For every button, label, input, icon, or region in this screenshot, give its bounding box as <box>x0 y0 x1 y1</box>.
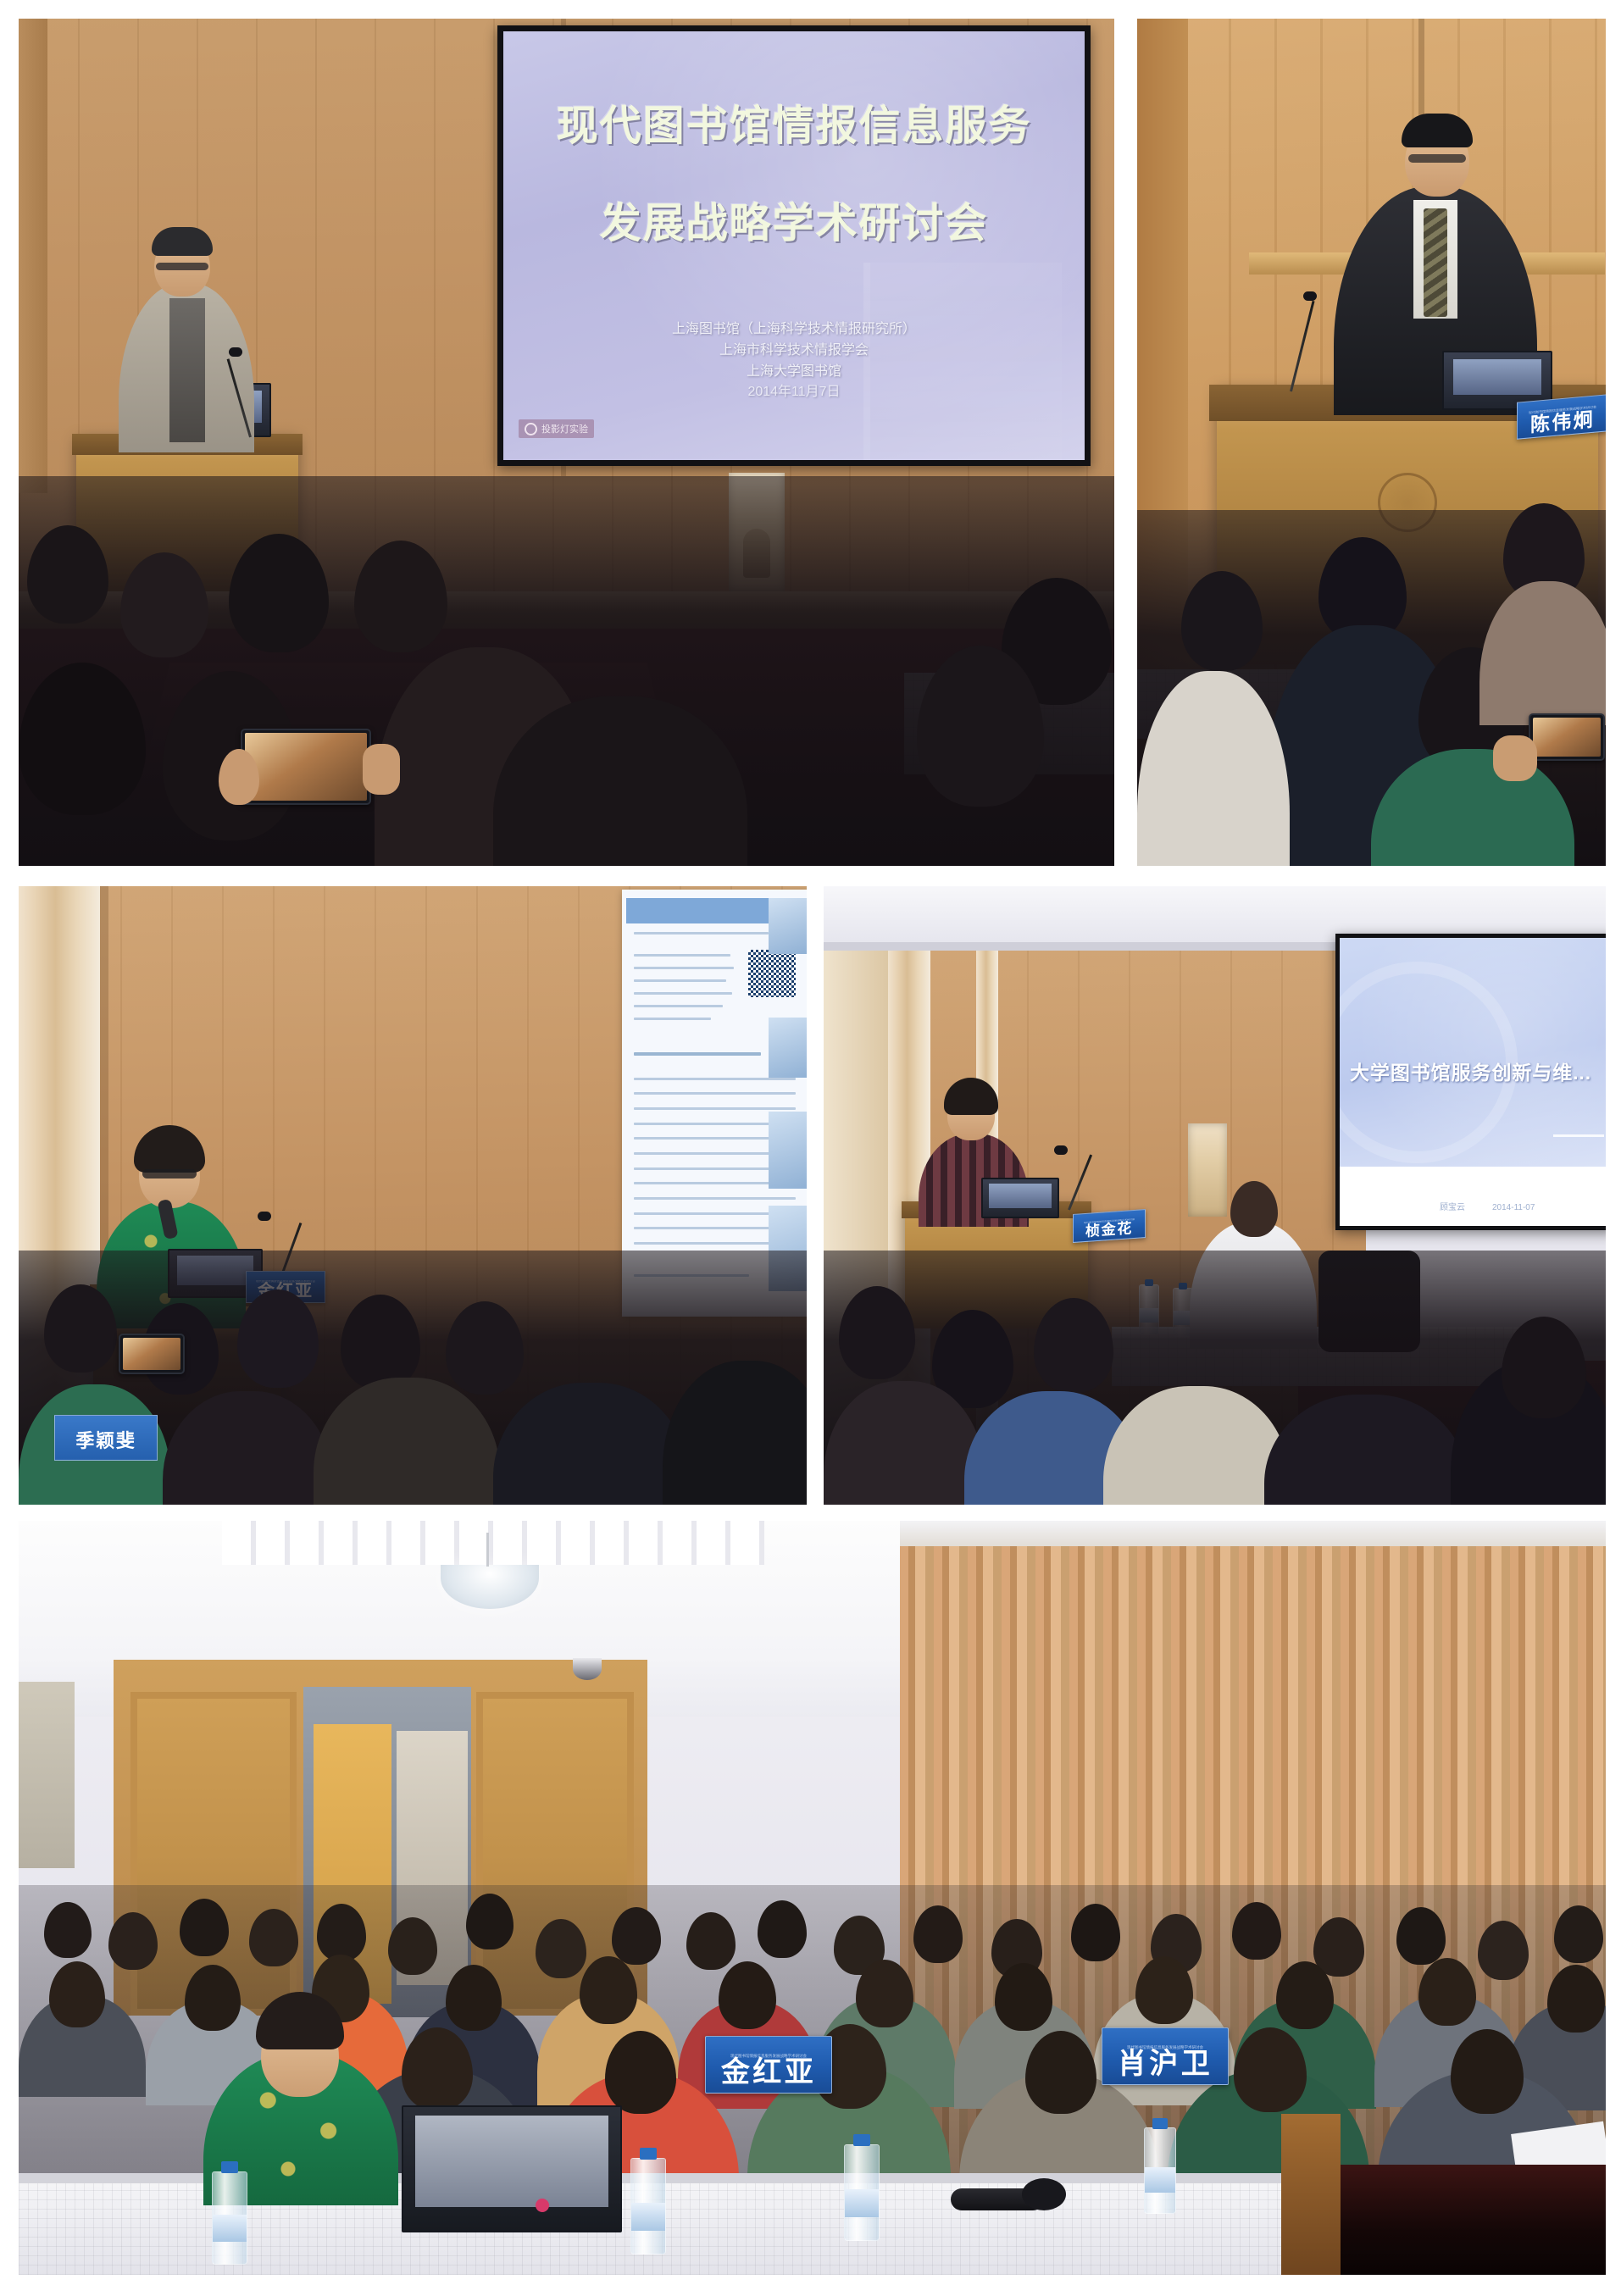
photo-full-audience-hall[interactable]: 现代图书馆情报信息服务发展战略学术研讨会 金红亚 现代图书馆情报信息服务发展战略… <box>19 1521 1606 2275</box>
photo-speaker-chen-weijiong[interactable]: 现代图书馆情报信息服务发展战略学术研讨会 陈伟炯 <box>1137 19 1606 866</box>
microphone-icon <box>229 347 242 357</box>
projector-icon: 投影灯实验 <box>519 419 594 438</box>
security-camera-icon <box>573 1658 602 1680</box>
slide-organizer-line-3: 上海大学图书馆 <box>503 362 1085 383</box>
projection-screen: 现代图书馆情报信息服务 发展战略学术研讨会 上海图书馆（上海科学技术情报研究所）… <box>497 25 1091 466</box>
microphone-icon <box>1054 1145 1068 1155</box>
wall-niche <box>1188 1123 1227 1217</box>
slide-logo-label: 投影灯实验 <box>541 422 588 435</box>
projection-screen: 大学图书馆服务创新与维... 顾宝云 2014-11-07 <box>1335 934 1606 1230</box>
attendee-badge: 季颖斐 季颖斐 <box>54 1415 158 1461</box>
microphone-icon <box>1303 291 1317 301</box>
speaker-hair <box>152 227 213 256</box>
slide-title: 大学图书馆服务创新与维... <box>1340 1056 1606 1085</box>
speaker-glasses <box>142 1169 197 1179</box>
speaker-tie <box>1424 208 1447 317</box>
speaker-shirt <box>169 298 205 442</box>
audience-phone <box>119 1334 185 1374</box>
phone-holder-hand <box>363 744 400 795</box>
podium-laptop <box>981 1178 1059 1218</box>
speaker-glasses <box>156 263 208 270</box>
speaker-glasses <box>1408 154 1466 163</box>
nameplate-speaker: 现代图书馆情报信息服务发展战略学术研讨会 桢金花 <box>1073 1209 1146 1243</box>
speaker-hair <box>1402 114 1473 147</box>
nameplate-head-table-2: 现代图书馆情报信息服务发展战略学术研讨会 肖沪卫 <box>1102 2027 1229 2085</box>
phone-holder-hand <box>1493 735 1537 781</box>
photo-opening-speaker-wide-shot[interactable]: 现代图书馆情报信息服务 发展战略学术研讨会 上海图书馆（上海科学技术情报研究所）… <box>19 19 1114 866</box>
slide-organizer-line-2: 上海市科学技术情报学会 <box>503 341 1085 362</box>
lamp-rod <box>486 1533 489 1567</box>
water-bottle <box>212 2171 247 2265</box>
nameplate-name: 肖沪卫 <box>1102 2049 1228 2084</box>
slide-photo <box>769 898 807 954</box>
slide-date: 2014-11-07 <box>1492 1201 1535 1215</box>
curtain-rail <box>900 1521 1606 1546</box>
photo-speaker-jin-hongya[interactable]: 现代图书馆情报信息服务发展战略学术研讨会 金红亚 季颖斐 季颖斐 <box>19 886 807 1505</box>
slide-date: 2014年11月7日 <box>503 382 1085 403</box>
badge-name: 季颖斐 <box>75 1426 136 1453</box>
wall-seam <box>19 19 47 493</box>
water-bottle <box>1144 2127 1176 2214</box>
foreground-curtain-shadow <box>1307 2165 1606 2275</box>
head-table-laptop[interactable] <box>402 2105 622 2232</box>
slide-title-line-2: 发展战略学术研讨会 <box>503 190 1085 250</box>
chair-wood-frame <box>1281 2114 1341 2275</box>
projector-lens-icon <box>525 423 537 435</box>
ceiling-slats <box>222 1521 764 1565</box>
audience-phone <box>241 729 371 805</box>
nameplate-name: 金红亚 <box>706 2058 831 2093</box>
audience-phone <box>1529 713 1605 761</box>
slide-presenter: 顾宝云 <box>1440 1201 1465 1215</box>
slide-rule <box>1553 1134 1604 1137</box>
photo-speaker-zhen-jinhua[interactable]: 大学图书馆服务创新与维... 顾宝云 2014-11-07 <box>824 886 1606 1505</box>
water-bottle <box>844 2144 880 2241</box>
slide-photo <box>769 1018 807 1078</box>
slide-organizer-line-1: 上海图书馆（上海科学技术情报研究所） <box>503 319 1085 341</box>
laptop-sticker <box>536 2199 549 2212</box>
table-microphone-head-icon <box>1022 2178 1066 2210</box>
water-bottle <box>630 2158 666 2254</box>
nameplate-speaker: 现代图书馆情报信息服务发展战略学术研讨会 陈伟炯 <box>1517 394 1606 439</box>
photo-collage: 现代图书馆情报信息服务 发展战略学术研讨会 上海图书馆（上海科学技术情报研究所）… <box>0 0 1621 2296</box>
slide-footer-band <box>1340 1167 1606 1226</box>
slide-title-line-1: 现代图书馆情报信息服务 <box>503 92 1085 153</box>
wall-notice-board <box>19 1682 75 1868</box>
slide-photo <box>769 1112 807 1189</box>
microphone-icon <box>258 1212 271 1221</box>
nameplate-head-table-1: 现代图书馆情报信息服务发展战略学术研讨会 金红亚 <box>705 2036 832 2094</box>
